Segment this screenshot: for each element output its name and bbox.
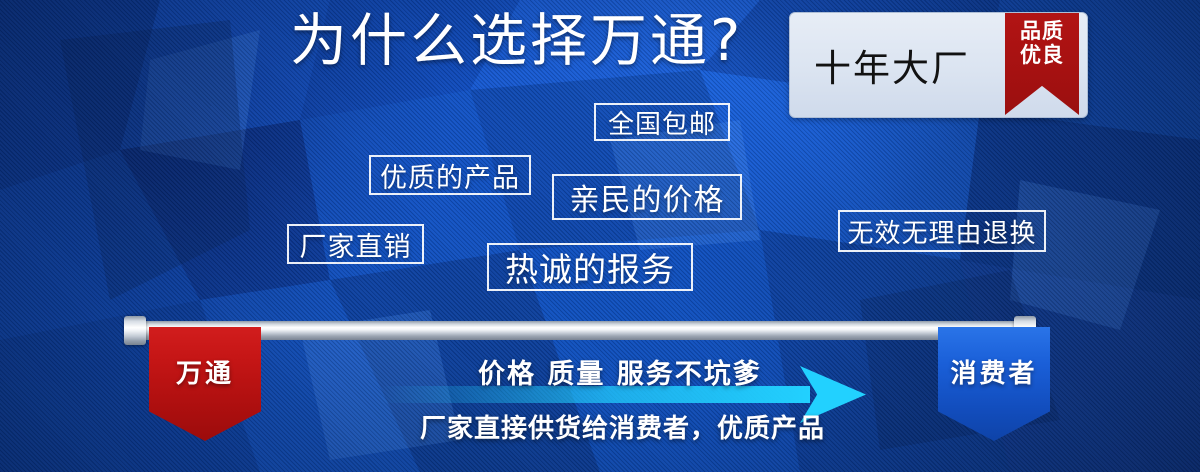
rod-cap-left-icon [124,316,146,345]
feature-tag-label: 全国包邮 [608,104,716,141]
feature-tag: 厂家直销 [287,224,424,264]
feature-tag: 优质的产品 [369,155,531,195]
feature-tag-label: 优质的产品 [380,156,520,195]
badge-label: 十年大厂 [814,38,970,92]
feature-tag: 热诚的报务 [487,243,693,291]
feature-tag: 亲民的价格 [552,174,742,220]
promo-banner: 为什么选择万通? 十年大厂 品质 优良 全国包邮优质的产品亲民的价格厂家直销热诚… [0,0,1200,472]
feature-tag: 全国包邮 [594,103,730,141]
flow-headline: 价格 质量 服务不坑爹 [478,352,762,391]
page-title: 为什么选择万通? [290,12,743,72]
target-banner-label: 消费者 [950,353,1037,390]
hanging-rod [138,321,1018,340]
feature-tag-label: 厂家直销 [300,225,412,264]
ribbon-line-2: 优良 [1020,44,1064,68]
quality-badge: 十年大厂 品质 优良 [789,12,1088,118]
source-banner-label: 万通 [176,353,234,390]
quality-ribbon: 品质 优良 [1005,12,1079,115]
ribbon-line-1: 品质 [1020,20,1064,44]
feature-tag-label: 亲民的价格 [570,175,725,219]
feature-tag: 无效无理由退换 [838,210,1046,252]
feature-tag-label: 无效无理由退换 [847,213,1036,250]
feature-tag-label: 热诚的报务 [505,243,675,291]
flow-subline: 厂家直接供货给消费者，优质产品 [420,408,825,445]
